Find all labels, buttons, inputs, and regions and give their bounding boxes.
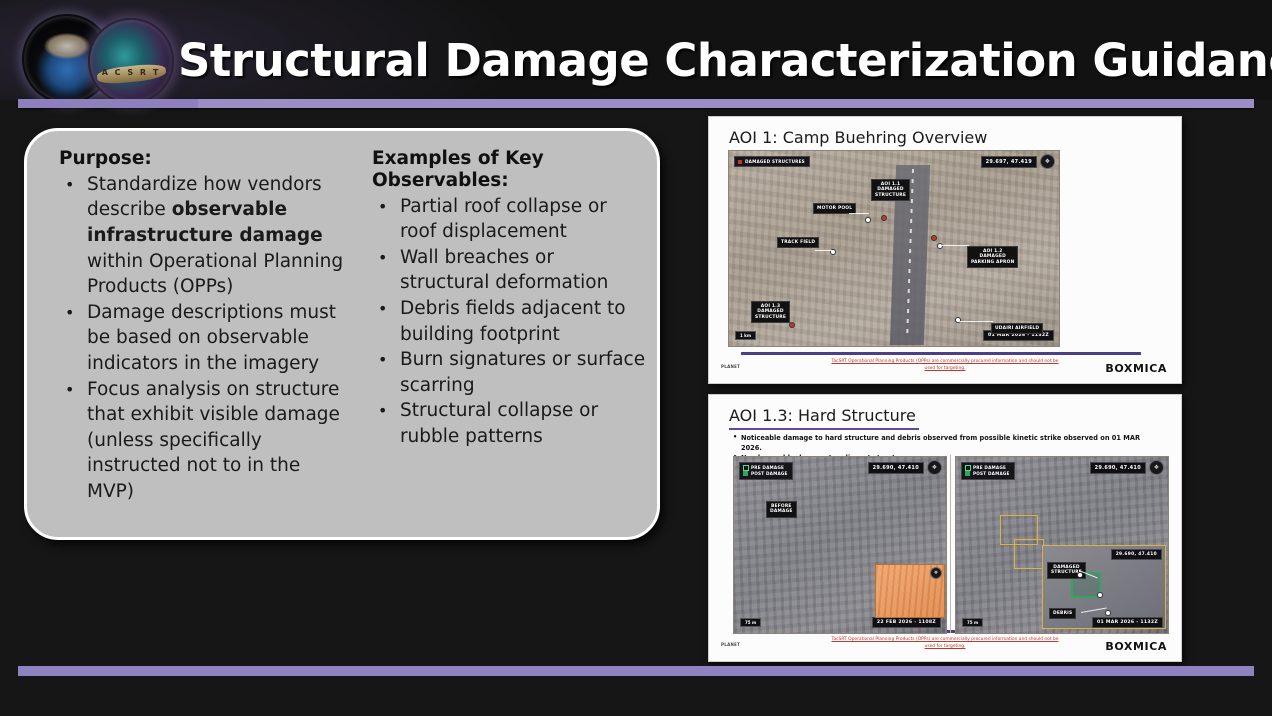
slide1-footer-rule [741,352,1141,355]
slide1-satellite-image: DAMAGED STRUCTURES 29.697, 47.419 ❖ 01 M… [728,150,1060,347]
list-item: Wall breaches or structural deformation [372,245,647,296]
slide2-satellite-after: PRE DAMAGE POST DAMAGE 29.690, 47.410 ❖ … [955,456,1169,634]
map-point [1097,592,1103,598]
leader-line [957,321,993,322]
zoom-region-box [1014,539,1044,569]
observables-column: Examples of Key Observables: Partial roo… [354,131,657,537]
leader-line [815,250,833,251]
purpose-bullet-list: Standardize how vendors describe observa… [59,172,344,505]
slide1-coordinates: 29.697, 47.419 [981,156,1037,168]
slide2-after-datestamp: 01 MAR 2026 - 1132Z [1092,617,1163,628]
list-item: Focus analysis on structure that exhibit… [59,377,344,505]
slide2-before-legend: PRE DAMAGE POST DAMAGE [739,462,793,480]
map-label-aoi-1-2: AOI 1.2 DAMAGED PARKING APRON [967,246,1018,268]
legend-pre-label: PRE DAMAGE [973,465,1006,470]
list-item: Structural collapse or rubble patterns [372,398,647,449]
map-point [955,317,961,323]
list-item: Burn signatures or surface scarring [372,347,647,398]
list-item: Standardize how vendors describe observa… [59,172,344,300]
compass-icon: ❖ [1040,154,1055,169]
leader-line [849,213,869,214]
compass-icon: ❖ [927,460,942,475]
legend-pre-label: PRE DAMAGE [751,465,784,470]
acsrt-ribbon-label: A C S R T [90,68,172,77]
list-item: Debris fields adjacent to building footp… [372,296,647,347]
map-point-damaged [931,235,937,241]
map-label-track-field: TRACK FIELD [777,237,819,248]
accent-bar-bottom [18,666,1254,676]
slide2-after-legend: PRE DAMAGE POST DAMAGE [961,462,1015,480]
map-label-aoi-1-3: AOI 1.3 DAMAGED STRUCTURE [751,301,790,323]
slide2-after-scalebar: 75 m [962,618,983,627]
bullet-post: within Operational Planning Products (OP… [87,251,343,298]
list-item: Partial roof collapse or roof displaceme… [372,194,647,245]
purpose-heading: Purpose: [59,148,344,170]
guidance-panel: Purpose: Standardize how vendors describ… [24,128,660,540]
list-item: Damage descriptions must be based on obs… [59,300,344,377]
bullet-pre: Focus analysis on structure that exhibit… [87,379,340,502]
slide2-before-scalebar: 75 m [740,618,761,627]
leader-line [941,245,969,246]
map-point [1105,610,1111,616]
compass-icon: ❖ [1149,460,1164,475]
slide1-scalebar: 1 km [735,331,756,340]
slide2-title-rule [729,428,919,430]
map-point-damaged [789,322,795,328]
observables-bullet-list: Partial roof collapse or roof displaceme… [372,194,647,450]
slide2-before-inset-map: ❖ [875,564,945,618]
logo-group: A C S R T [16,6,186,98]
slide1-brand: BOXMICA [1105,362,1167,375]
zoom-inset-coordinates: 29.690, 47.410 [1111,549,1162,560]
slide-header: A C S R T Structural Damage Characteriza… [0,0,1272,100]
map-label-debris: DEBRIS [1049,608,1076,619]
slide2-before-coordinates: 29.690, 47.410 [868,462,924,474]
map-label-aoi-1-1: AOI 1.1 DAMAGED STRUCTURE [871,179,910,201]
slide2-image-divider [950,455,951,633]
slide2-brand: BOXMICA [1105,640,1167,653]
slide1-legend: DAMAGED STRUCTURES [734,156,810,167]
map-label-udairi-airfield: UDAIRI AIRFIELD [991,323,1043,334]
map-point [937,243,943,249]
accent-bar-top [18,99,1254,108]
acsrt-emblem-icon: A C S R T [88,18,174,104]
map-label-before-damage: BEFORE DAMAGE [766,501,797,518]
compass-icon: ❖ [930,567,942,579]
legend-post-label: POST DAMAGE [973,471,1010,476]
slide2-bullet: Noticeable damage to hard structure and … [731,433,1161,453]
slide1-title: AOI 1: Camp Buehring Overview [729,128,987,147]
slide-canvas: A C S R T Structural Damage Characteriza… [0,0,1272,716]
slide2-before-datestamp: 22 FEB 2026 - 1108Z [872,617,941,628]
page-title: Structural Damage Characterization Guida… [178,34,1258,87]
map-point-damaged [881,215,887,221]
slide2-after-coordinates: 29.690, 47.410 [1090,462,1146,474]
bullet-pre: Damage descriptions must be based on obs… [87,302,336,374]
legend-post-label: POST DAMAGE [751,471,788,476]
leader-line [1081,607,1107,612]
slide2-title: AOI 1.3: Hard Structure [729,406,916,425]
purpose-column: Purpose: Standardize how vendors describ… [27,131,354,537]
map-point [1077,572,1083,578]
map-point [865,217,871,223]
observables-heading: Examples of Key Observables: [372,148,647,192]
